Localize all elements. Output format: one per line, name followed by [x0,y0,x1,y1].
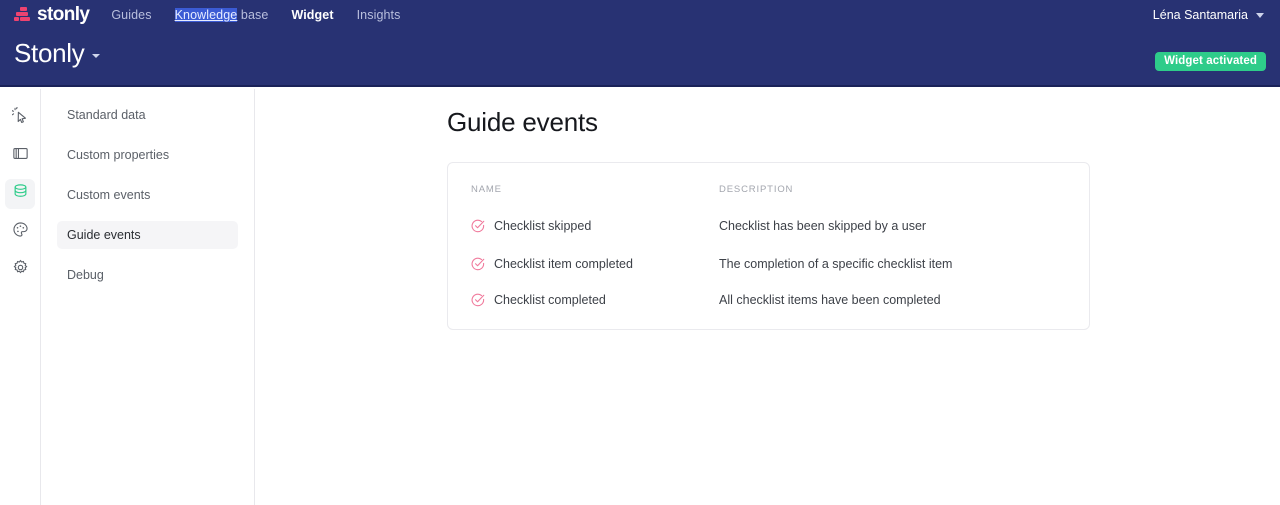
sidebar-item-debug[interactable]: Debug [57,261,238,289]
table-row[interactable]: Checklist item completed The completion … [448,245,1089,283]
workspace-row: Stonly Widget activated [0,30,1280,85]
table-row[interactable]: Checklist skipped Checklist has been ski… [448,207,1089,245]
nav-item-widget[interactable]: Widget [291,8,333,22]
table-cell-name: Checklist item completed [448,245,719,283]
check-circle-icon [471,257,485,271]
sidebar-item-guide-events[interactable]: Guide events [57,221,238,249]
user-menu[interactable]: Léna Santamaria [1153,8,1264,22]
table-body: Checklist skipped Checklist has been ski… [448,207,1089,329]
primary-nav: Guides Knowledge base Widget Insights [111,8,400,22]
check-circle-icon [471,293,485,307]
database-icon [12,183,29,205]
brand-name: stonly [37,4,89,26]
chevron-down-icon [1256,13,1264,18]
event-name: Checklist item completed [494,257,633,271]
stonly-logo-icon [14,7,32,24]
table-header: NAME DESCRIPTION [448,163,1089,207]
table-cell-description: Checklist has been skipped by a user [719,207,1089,245]
event-name: Checklist completed [494,293,606,307]
table-cell-description: All checklist items have been completed [719,283,1089,329]
nav-item-guides[interactable]: Guides [111,8,151,22]
primary-nav-row: stonly Guides Knowledge base Widget Insi… [0,0,1280,30]
nav-item-knowledge-base[interactable]: Knowledge base [175,8,269,22]
sidebar-item-standard-data[interactable]: Standard data [57,101,238,129]
panel-layout-icon [12,145,29,167]
rail-item-appearance[interactable] [5,217,35,247]
user-name: Léna Santamaria [1153,8,1248,22]
table-row[interactable]: Checklist completed All checklist items … [448,283,1089,329]
guide-events-card: NAME DESCRIPTION [447,162,1090,330]
top-header-bar: stonly Guides Knowledge base Widget Insi… [0,0,1280,87]
sidebar-item-custom-properties[interactable]: Custom properties [57,141,238,169]
table-header-row: NAME DESCRIPTION [448,163,1089,207]
brand-logo[interactable]: stonly [14,4,89,26]
rail-item-interactions[interactable] [5,103,35,133]
column-header-name: NAME [448,163,719,207]
main-content: Guide events NAME DESCRIPTION [256,89,1280,505]
page-title: Guide events [447,107,598,138]
event-name: Checklist skipped [494,219,591,233]
gear-icon [12,259,29,281]
rail-item-data[interactable] [5,179,35,209]
rail-item-layout[interactable] [5,141,35,171]
caret-down-icon [92,54,100,58]
workspace-selector[interactable]: Stonly [14,38,100,69]
sidebar-item-custom-events[interactable]: Custom events [57,181,238,209]
icon-rail [0,89,41,505]
status-badge: Widget activated [1155,52,1266,71]
nav-item-insights[interactable]: Insights [357,8,401,22]
table-cell-description: The completion of a specific checklist i… [719,245,1089,283]
nav-item-knowledge-base-selection: Knowledge [175,8,238,22]
table-cell-name: Checklist completed [448,283,719,329]
palette-icon [12,221,29,243]
column-header-description: DESCRIPTION [719,163,1089,207]
workspace-name: Stonly [14,38,84,69]
cursor-click-icon [12,107,29,129]
table-cell-name: Checklist skipped [448,207,719,245]
check-circle-icon [471,219,485,233]
nav-item-knowledge-base-rest: base [237,8,268,22]
secondary-sidebar: Standard data Custom properties Custom e… [41,89,255,505]
guide-events-table: NAME DESCRIPTION [448,163,1089,329]
rail-item-settings[interactable] [5,255,35,285]
